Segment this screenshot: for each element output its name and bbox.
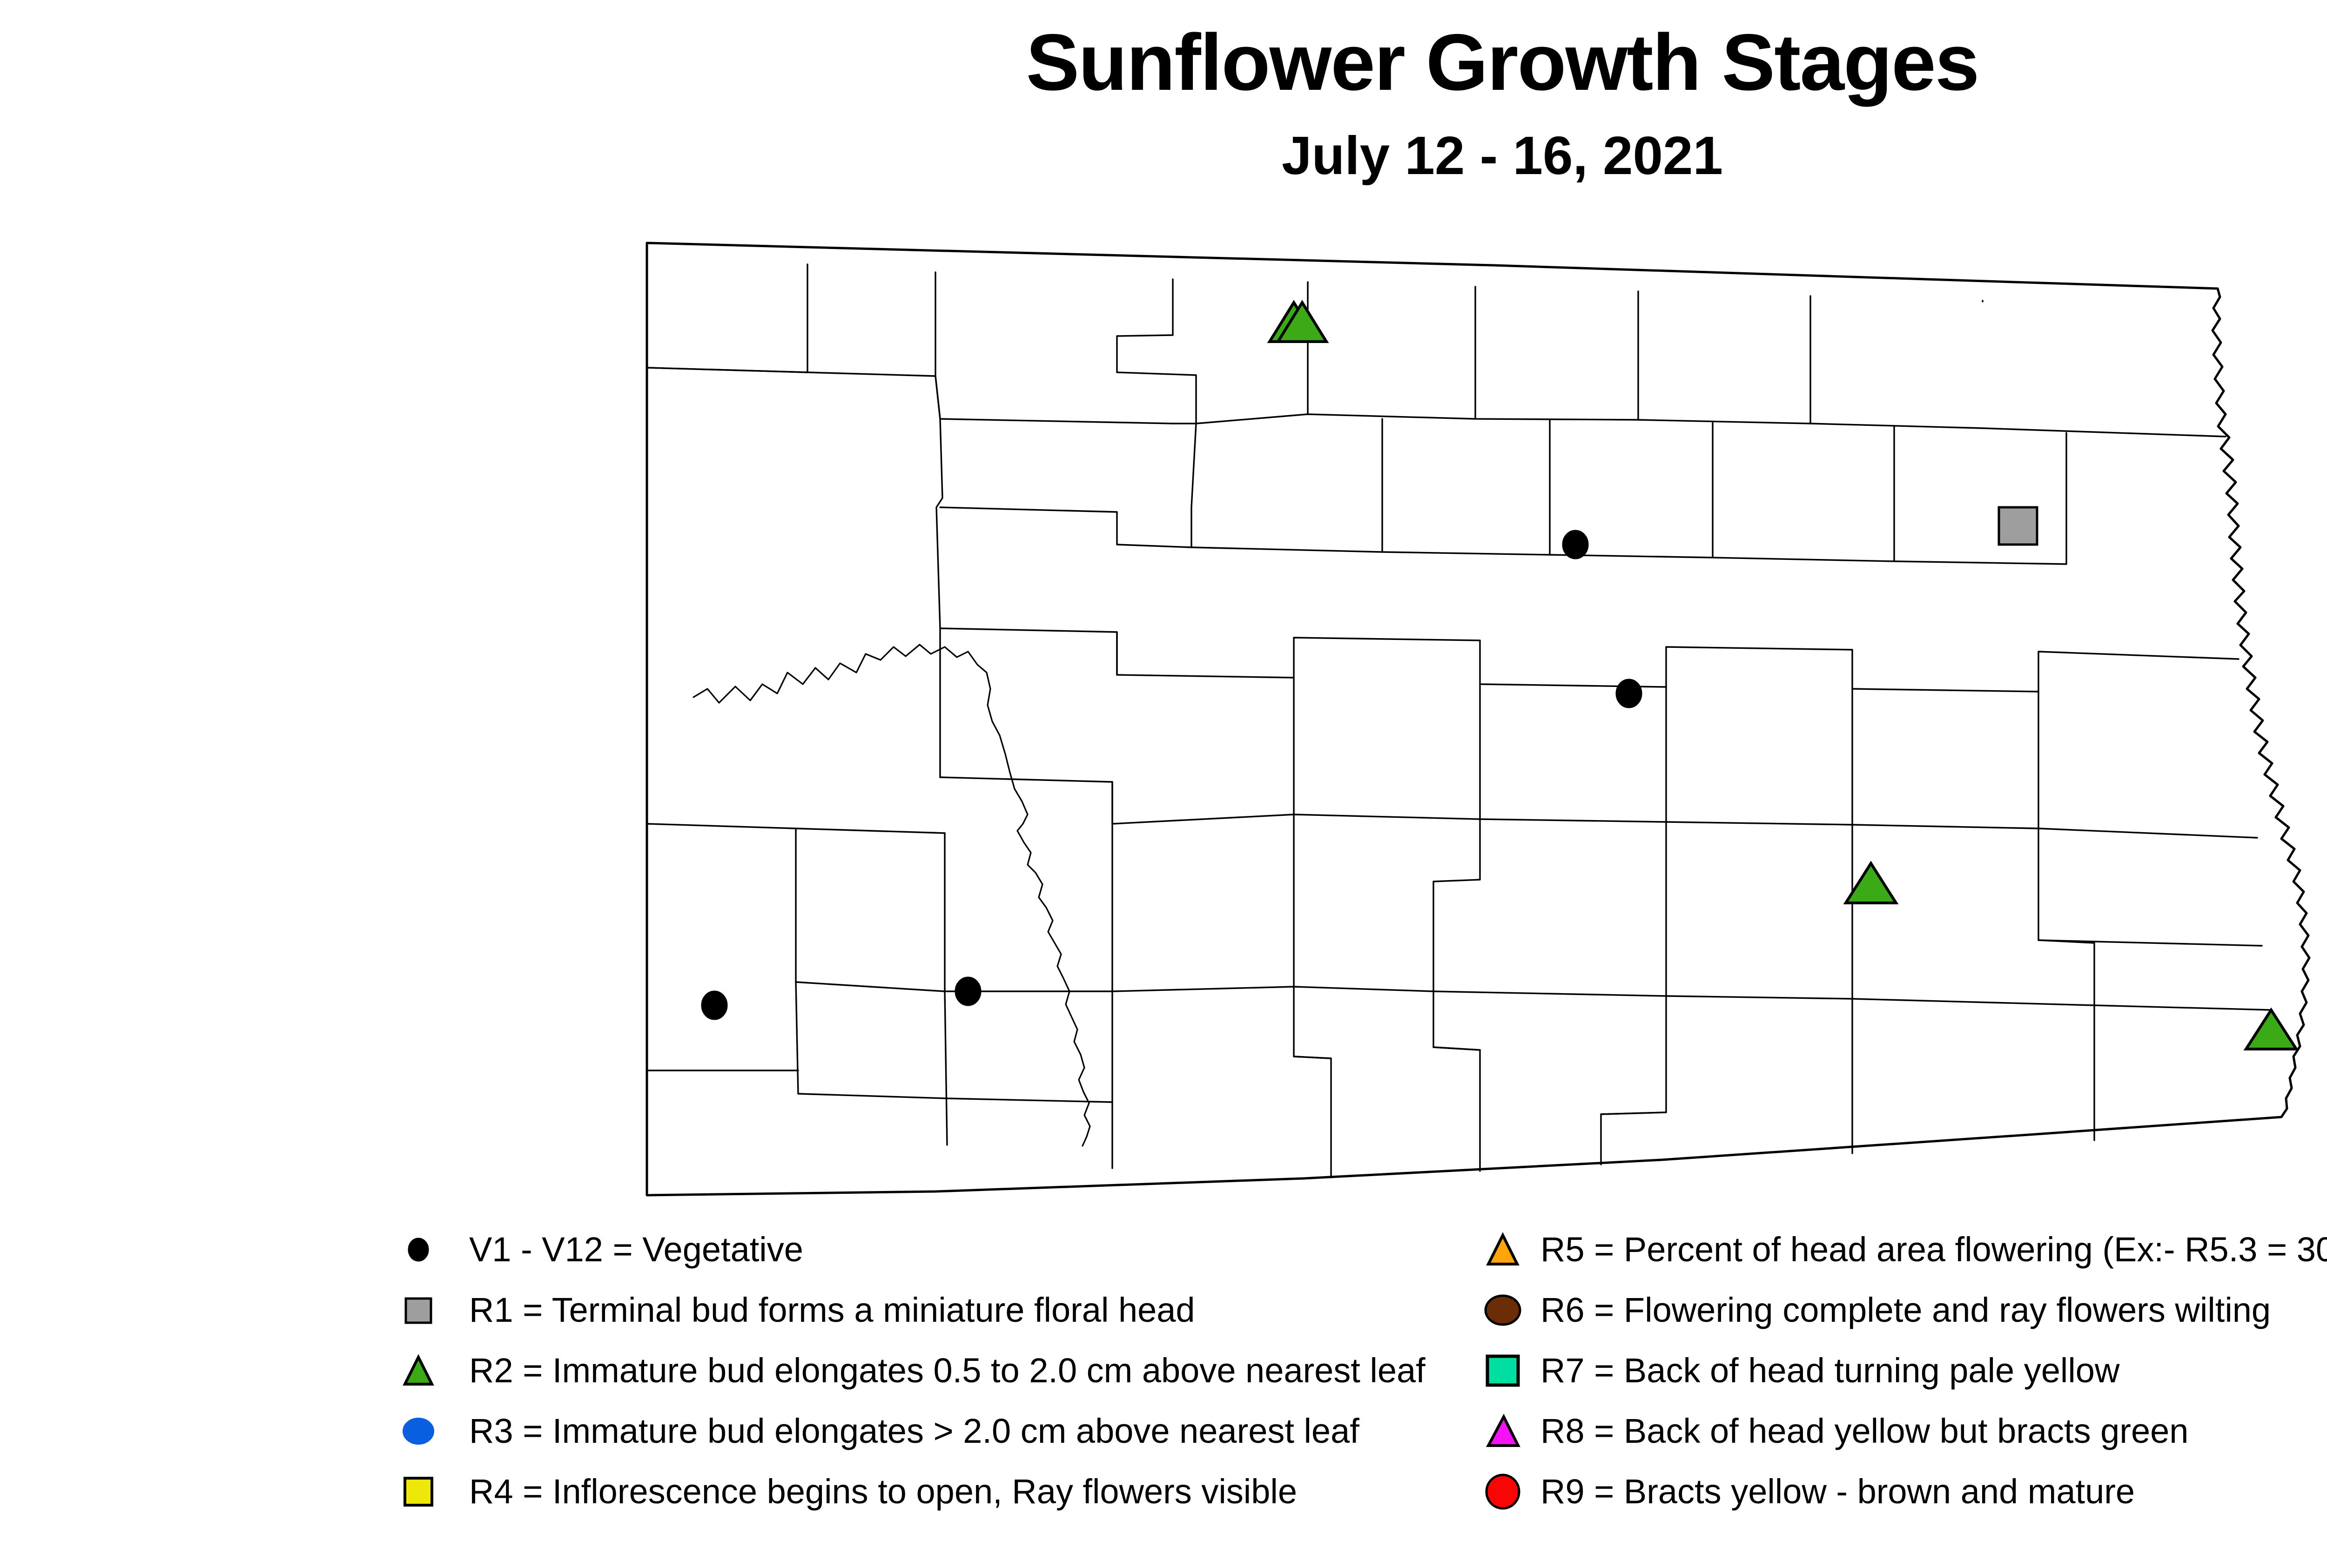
map-marker-v-central-north <box>1616 680 1641 707</box>
legend: V1 - V12 = Vegetative R1 = Terminal bud … <box>0 1219 2327 1545</box>
legend-item-r5: R5 = Percent of head area flowering (Ex:… <box>1485 1219 2327 1280</box>
legend-label-r1: R1 = Terminal bud forms a miniature flor… <box>469 1293 1195 1327</box>
legend-item-r6: R6 = Flowering complete and ray flowers … <box>1485 1280 2327 1340</box>
legend-label-r7: R7 = Back of head turning pale yellow <box>1540 1353 2119 1388</box>
map-marker-r1 <box>1999 507 2037 545</box>
legend-label-r4: R4 = Inflorescence begins to open, Ray f… <box>469 1474 1297 1509</box>
circle-icon <box>1485 1474 1521 1510</box>
legend-label-r9: R9 = Bracts yellow - brown and mature <box>1540 1474 2135 1509</box>
page-title: Sunflower Growth Stages <box>0 22 2327 102</box>
square-icon <box>400 1292 437 1328</box>
title-block: Sunflower Growth Stages July 12 - 16, 20… <box>0 22 2327 182</box>
state-boundary <box>647 243 2309 1195</box>
triangle-icon <box>1485 1413 1521 1449</box>
legend-item-r8: R8 = Back of head yellow but bracts gree… <box>1485 1401 2327 1461</box>
north-dakota-map <box>642 219 2318 1205</box>
legend-column-left: V1 - V12 = Vegetative R1 = Terminal bud … <box>400 1219 1508 1522</box>
page-subtitle: July 12 - 16, 2021 <box>0 128 2327 182</box>
legend-item-r1: R1 = Terminal bud forms a miniature flor… <box>400 1280 1508 1340</box>
triangle-icon <box>1485 1232 1521 1268</box>
legend-item-r3: R3 = Immature bud elongates > 2.0 cm abo… <box>400 1401 1508 1461</box>
circle-icon <box>400 1413 437 1449</box>
legend-label-r3: R3 = Immature bud elongates > 2.0 cm abo… <box>469 1414 1359 1448</box>
square-icon <box>400 1474 437 1510</box>
legend-label-v: V1 - V12 = Vegetative <box>469 1232 803 1267</box>
legend-item-r9: R9 = Bracts yellow - brown and mature <box>1485 1461 2327 1522</box>
legend-label-r8: R8 = Back of head yellow but bracts gree… <box>1540 1414 2188 1448</box>
legend-label-r6: R6 = Flowering complete and ray flowers … <box>1540 1293 2271 1327</box>
circle-icon <box>400 1232 437 1268</box>
legend-label-r2: R2 = Immature bud elongates 0.5 to 2.0 c… <box>469 1353 1426 1388</box>
map-marker-v-southwest <box>955 977 981 1005</box>
map-marker-v-west <box>702 991 727 1019</box>
legend-label-r5: R5 = Percent of head area flowering (Ex:… <box>1540 1232 2327 1267</box>
map-marker-v-north <box>1563 531 1588 559</box>
triangle-icon <box>400 1353 437 1389</box>
legend-item-r7: R7 = Back of head turning pale yellow <box>1485 1340 2327 1401</box>
legend-item-r4: R4 = Inflorescence begins to open, Ray f… <box>400 1461 1508 1522</box>
circle-icon <box>1485 1292 1521 1328</box>
legend-column-right: R5 = Percent of head area flowering (Ex:… <box>1485 1219 2327 1522</box>
square-icon <box>1485 1353 1521 1389</box>
map-svg <box>642 219 2318 1205</box>
legend-item-r2: R2 = Immature bud elongates 0.5 to 2.0 c… <box>400 1340 1508 1401</box>
legend-item-v: V1 - V12 = Vegetative <box>400 1219 1508 1280</box>
map-page: Sunflower Growth Stages July 12 - 16, 20… <box>0 0 2327 1568</box>
